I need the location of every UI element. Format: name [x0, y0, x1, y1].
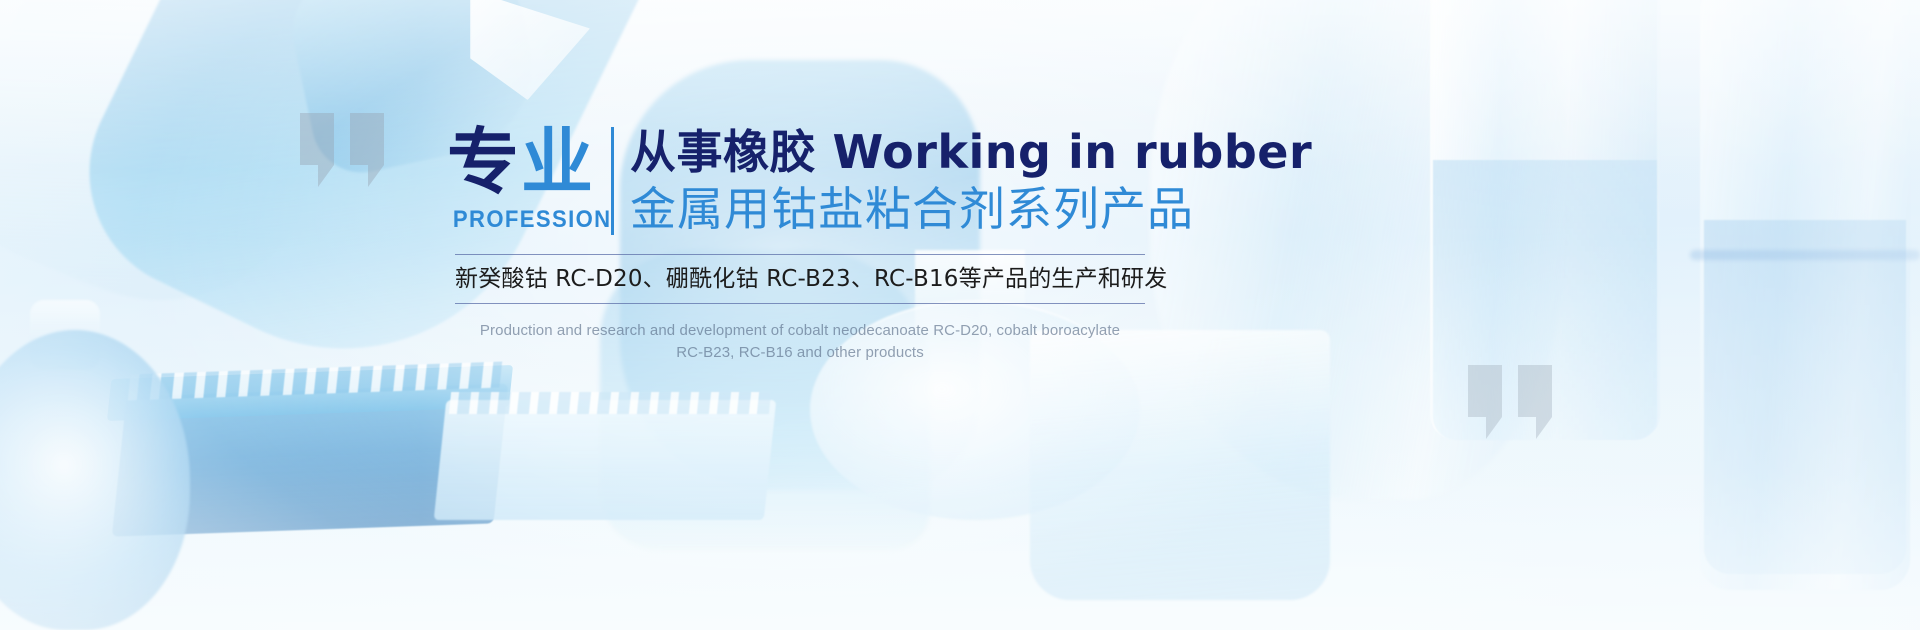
headline-line-2: 金属用钴盐粘合剂系列产品 [630, 180, 1730, 238]
hero-banner: 专业 PROFESSION 从事橡胶 Working in rubber 金属用… [0, 0, 1920, 630]
english-caption-line-1: Production and research and development … [400, 320, 1200, 342]
logo-char-ye: 业 [521, 120, 595, 204]
english-caption: Production and research and development … [400, 320, 1200, 364]
product-line-rule-bottom [455, 303, 1145, 304]
product-line-rule-top [455, 254, 1145, 255]
english-caption-line-2: RC-B23, RC-B16 and other products [400, 342, 1200, 364]
headline-line-1: 从事橡胶 Working in rubber [630, 124, 1730, 180]
profession-logo: 专业 PROFESSION [447, 122, 595, 234]
profession-logo-chinese: 专业 [447, 122, 595, 202]
headline-block: 从事橡胶 Working in rubber 金属用钴盐粘合剂系列产品 [630, 124, 1730, 238]
product-summary-text: 新癸酸钴 RC-D20、硼酰化钴 RC-B23、RC-B16等产品的生产和研发 [455, 259, 1145, 299]
profession-logo-english: PROFESSION [453, 206, 589, 234]
logo-char-zhuan: 专 [447, 120, 521, 204]
banner-content: 专业 PROFESSION 从事橡胶 Working in rubber 金属用… [0, 0, 1920, 630]
logo-headline-divider [611, 127, 614, 235]
